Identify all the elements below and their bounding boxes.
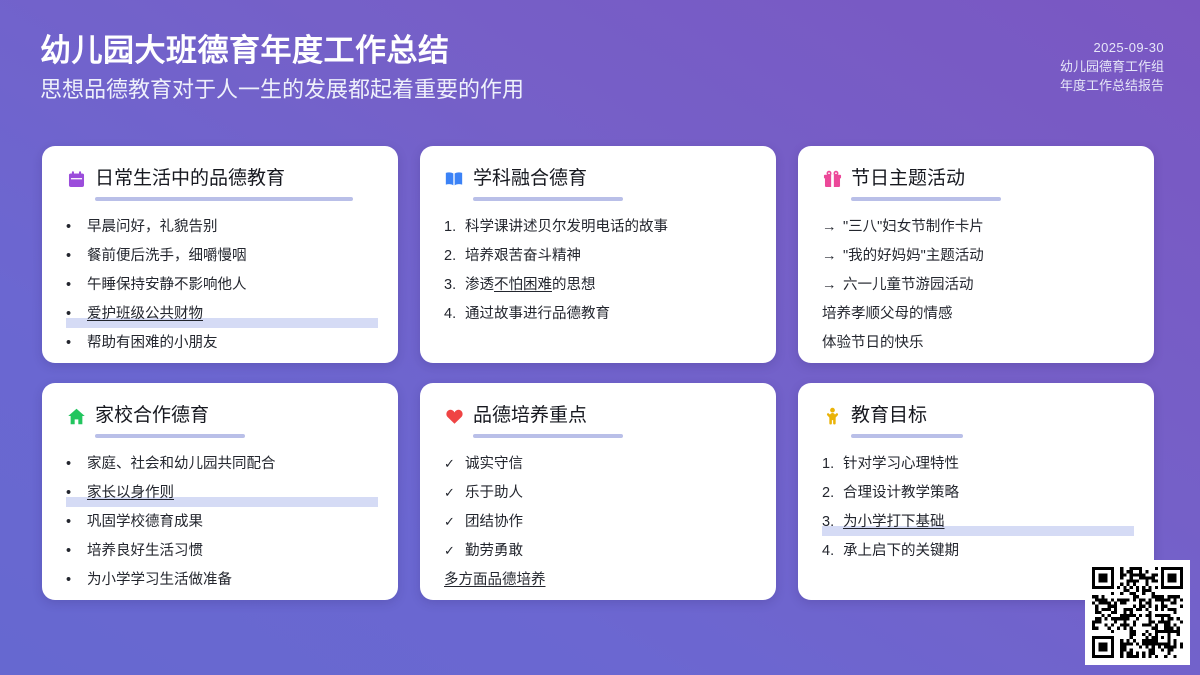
list-item-text: 爱护班级公共财物 <box>87 306 203 322</box>
list-item-marker: 1. <box>444 218 456 236</box>
content-card: 日常生活中的品德教育•早晨问好，礼貌告别•餐前便后洗手，细嚼慢咽•午睡保持安静不… <box>42 146 398 363</box>
card-title: 节日主题活动 <box>851 168 965 191</box>
list-item-text: 早晨问好，礼貌告别 <box>87 219 218 235</box>
card-title: 学科融合德育 <box>473 168 587 191</box>
list-item-text: 培养良好生活习惯 <box>87 543 203 559</box>
list-item-marker: • <box>66 542 71 560</box>
list-item-marker: • <box>66 484 71 502</box>
list-item-marker: • <box>66 571 71 589</box>
list-item-text: 培养孝顺父母的情感 <box>822 306 953 322</box>
card-item-list: •家庭、社会和幼儿园共同配合•家长以身作则•巩固学校德育成果•培养良好生活习惯•… <box>66 450 374 595</box>
list-item-text: 为小学学习生活做准备 <box>87 572 232 588</box>
card-body: •家庭、社会和幼儿园共同配合•家长以身作则•巩固学校德育成果•培养良好生活习惯•… <box>66 450 374 595</box>
list-item-text: 渗透不怕困难的思想 <box>465 277 596 293</box>
list-item: 多方面品德培养 <box>444 566 752 595</box>
calendar-icon <box>66 169 86 189</box>
list-item-text: 诚实守信 <box>465 456 523 472</box>
card-item-list: 1.针对学习心理特性2.合理设计教学策略3.为小学打下基础4.承上启下的关键期 <box>822 450 1130 566</box>
list-item-text: 针对学习心理特性 <box>843 456 959 472</box>
content-card: 学科融合德育1.科学课讲述贝尔发明电话的故事2.培养艰苦奋斗精神3.渗透不怕困难… <box>420 146 776 363</box>
slide-header: 幼儿园大班德育年度工作总结 思想品德教育对于人一生的发展都起着重要的作用 202… <box>0 0 1200 130</box>
card-header: 节日主题活动 <box>822 168 1130 191</box>
header-title-block: 幼儿园大班德育年度工作总结 思想品德教育对于人一生的发展都起着重要的作用 <box>40 32 524 104</box>
list-item-marker: → <box>822 247 837 265</box>
list-item-marker: 2. <box>444 247 456 265</box>
content-card: 品德培养重点✓诚实守信✓乐于助人✓团结协作✓勤劳勇敢多方面品德培养 <box>420 383 776 600</box>
card-item-list: 1.科学课讲述贝尔发明电话的故事2.培养艰苦奋斗精神3.渗透不怕困难的思想4.通… <box>444 213 752 329</box>
list-item-text: 六一儿童节游园活动 <box>843 277 974 293</box>
meta-date: 2025-09-30 <box>1060 38 1164 57</box>
page-subtitle: 思想品德教育对于人一生的发展都起着重要的作用 <box>40 75 524 105</box>
list-item-text: 培养艰苦奋斗精神 <box>465 248 581 264</box>
list-item: •巩固学校德育成果 <box>66 508 374 537</box>
card-body: ✓诚实守信✓乐于助人✓团结协作✓勤劳勇敢多方面品德培养 <box>444 450 752 595</box>
list-item-marker: • <box>66 455 71 473</box>
card-title-underline <box>473 197 623 201</box>
list-item-text: 餐前便后洗手，细嚼慢咽 <box>87 248 247 264</box>
list-item: •家长以身作则 <box>66 479 374 508</box>
card-header: 教育目标 <box>822 405 1130 428</box>
gift-icon <box>822 169 842 189</box>
list-item: 培养孝顺父母的情感 <box>822 300 1130 329</box>
list-item-marker: • <box>66 218 71 236</box>
card-header: 学科融合德育 <box>444 168 752 191</box>
list-item-text: 承上启下的关键期 <box>843 543 959 559</box>
card-title: 品德培养重点 <box>473 405 587 428</box>
list-item: ✓乐于助人 <box>444 479 752 508</box>
list-item: 3.为小学打下基础 <box>822 508 1130 537</box>
list-item: ✓勤劳勇敢 <box>444 537 752 566</box>
card-header: 家校合作德育 <box>66 405 374 428</box>
list-item-text: 帮助有困难的小朋友 <box>87 335 218 351</box>
card-body: 1.科学课讲述贝尔发明电话的故事2.培养艰苦奋斗精神3.渗透不怕困难的思想4.通… <box>444 213 752 329</box>
child-icon <box>822 406 842 426</box>
list-item-marker: → <box>822 276 837 294</box>
list-item: •餐前便后洗手，细嚼慢咽 <box>66 242 374 271</box>
list-item-text: 通过故事进行品德教育 <box>465 306 610 322</box>
list-item: →"三八"妇女节制作卡片 <box>822 213 1130 242</box>
card-header: 品德培养重点 <box>444 405 752 428</box>
list-item: →"我的好妈妈"主题活动 <box>822 242 1130 271</box>
list-item: •早晨问好，礼貌告别 <box>66 213 374 242</box>
list-item-marker: ✓ <box>444 542 455 560</box>
list-item-marker: ✓ <box>444 513 455 531</box>
card-body: →"三八"妇女节制作卡片→"我的好妈妈"主题活动→六一儿童节游园活动培养孝顺父母… <box>822 213 1130 358</box>
heart-icon <box>444 406 464 426</box>
header-meta-block: 2025-09-30 幼儿园德育工作组 年度工作总结报告 <box>1060 38 1164 95</box>
qr-code-image <box>1092 567 1183 658</box>
list-item-text: "三八"妇女节制作卡片 <box>843 219 984 235</box>
list-item: •帮助有困难的小朋友 <box>66 329 374 358</box>
list-item-text: "我的好妈妈"主题活动 <box>843 248 984 264</box>
list-item-marker: • <box>66 276 71 294</box>
list-item: 4.承上启下的关键期 <box>822 537 1130 566</box>
list-item-text: 午睡保持安静不影响他人 <box>87 277 247 293</box>
page-title: 幼儿园大班德育年度工作总结 <box>40 32 524 71</box>
list-item: •为小学学习生活做准备 <box>66 566 374 595</box>
card-title-underline <box>851 434 963 438</box>
card-title: 教育目标 <box>851 405 927 428</box>
list-item-marker: • <box>66 305 71 323</box>
list-item: •培养良好生活习惯 <box>66 537 374 566</box>
list-item-text: 多方面品德培养 <box>444 572 546 588</box>
card-item-list: ✓诚实守信✓乐于助人✓团结协作✓勤劳勇敢多方面品德培养 <box>444 450 752 595</box>
meta-org: 幼儿园德育工作组 <box>1060 57 1164 76</box>
card-title-underline <box>851 197 1001 201</box>
list-item-text: 勤劳勇敢 <box>465 543 523 559</box>
list-item-marker: • <box>66 513 71 531</box>
list-item-text: 家长以身作则 <box>87 485 174 501</box>
list-item-text: 团结协作 <box>465 514 523 530</box>
card-item-list: •早晨问好，礼貌告别•餐前便后洗手，细嚼慢咽•午睡保持安静不影响他人•爱护班级公… <box>66 213 374 358</box>
list-item: →六一儿童节游园活动 <box>822 271 1130 300</box>
list-item-marker: 4. <box>444 305 456 323</box>
list-item: 体验节日的快乐 <box>822 329 1130 358</box>
open-book-icon <box>444 169 464 189</box>
list-item: 1.针对学习心理特性 <box>822 450 1130 479</box>
card-title-underline <box>95 434 245 438</box>
list-item: •午睡保持安静不影响他人 <box>66 271 374 300</box>
list-item-text: 巩固学校德育成果 <box>87 514 203 530</box>
list-item: ✓诚实守信 <box>444 450 752 479</box>
list-item: 2.培养艰苦奋斗精神 <box>444 242 752 271</box>
list-item-marker: 3. <box>822 513 834 531</box>
content-card: 节日主题活动→"三八"妇女节制作卡片→"我的好妈妈"主题活动→六一儿童节游园活动… <box>798 146 1154 363</box>
list-item-text: 家庭、社会和幼儿园共同配合 <box>87 456 276 472</box>
card-title: 日常生活中的品德教育 <box>95 168 285 191</box>
list-item: ✓团结协作 <box>444 508 752 537</box>
card-body: 1.针对学习心理特性2.合理设计教学策略3.为小学打下基础4.承上启下的关键期 <box>822 450 1130 566</box>
list-item-marker: ✓ <box>444 455 455 473</box>
list-item-text: 科学课讲述贝尔发明电话的故事 <box>465 219 668 235</box>
list-item-text: 合理设计教学策略 <box>843 485 959 501</box>
list-item: •爱护班级公共财物 <box>66 300 374 329</box>
list-item: •家庭、社会和幼儿园共同配合 <box>66 450 374 479</box>
card-grid: 日常生活中的品德教育•早晨问好，礼貌告别•餐前便后洗手，细嚼慢咽•午睡保持安静不… <box>42 146 1158 600</box>
list-item-marker: 3. <box>444 276 456 294</box>
list-item: 3.渗透不怕困难的思想 <box>444 271 752 300</box>
list-item-marker: • <box>66 247 71 265</box>
list-item-marker: 2. <box>822 484 834 502</box>
qr-code[interactable] <box>1085 560 1190 665</box>
card-body: •早晨问好，礼貌告别•餐前便后洗手，细嚼慢咽•午睡保持安静不影响他人•爱护班级公… <box>66 213 374 358</box>
list-item-text: 体验节日的快乐 <box>822 335 924 351</box>
list-item-marker: 1. <box>822 455 834 473</box>
list-item-text: 为小学打下基础 <box>843 514 945 530</box>
card-title-underline <box>473 434 623 438</box>
meta-doc-type: 年度工作总结报告 <box>1060 76 1164 95</box>
card-title: 家校合作德育 <box>95 405 209 428</box>
home-icon <box>66 406 86 426</box>
list-item-marker: → <box>822 218 837 236</box>
list-item-marker: • <box>66 334 71 352</box>
card-title-underline <box>95 197 353 201</box>
list-item-marker: 4. <box>822 542 834 560</box>
list-item: 1.科学课讲述贝尔发明电话的故事 <box>444 213 752 242</box>
card-item-list: →"三八"妇女节制作卡片→"我的好妈妈"主题活动→六一儿童节游园活动培养孝顺父母… <box>822 213 1130 358</box>
content-card: 家校合作德育•家庭、社会和幼儿园共同配合•家长以身作则•巩固学校德育成果•培养良… <box>42 383 398 600</box>
list-item: 2.合理设计教学策略 <box>822 479 1130 508</box>
card-header: 日常生活中的品德教育 <box>66 168 374 191</box>
emphasised-text: 不怕困难 <box>494 277 552 293</box>
list-item: 4.通过故事进行品德教育 <box>444 300 752 329</box>
list-item-text: 乐于助人 <box>465 485 523 501</box>
list-item-marker: ✓ <box>444 484 455 502</box>
